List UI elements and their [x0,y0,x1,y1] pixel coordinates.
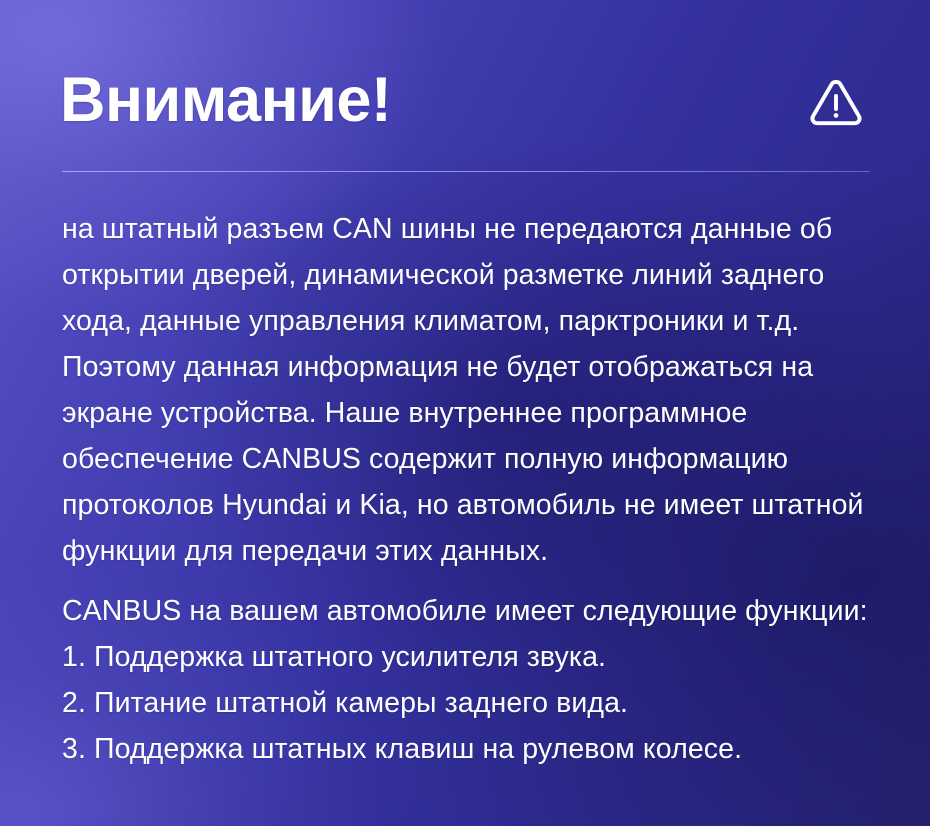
paragraph-line: Поэтому данная информация не будет отобр… [62,344,888,390]
page-title: Внимание! [60,69,391,132]
paragraph-line: обеспечение CANBUS содержит полную инфор… [62,436,888,482]
functions-list-block: CANBUS на вашем автомобиле имеет следующ… [62,588,888,772]
paragraph-line: функции для передачи этих данных. [62,528,888,574]
banner-content: Внимание! на штатный разъем CAN шины не … [0,0,930,826]
list-item: 1. Поддержка штатного усилителя звука. [62,634,888,680]
paragraph-block: на штатный разъем CAN шины не передаются… [62,206,888,574]
paragraph-line: на штатный разъем CAN шины не передаются… [62,206,888,252]
paragraph-line: открытии дверей, динамической разметке л… [62,252,888,298]
paragraph-line: экране устройства. Наше внутреннее прогр… [62,390,888,436]
paragraph-line: протоколов Hyundai и Kia, но автомобиль … [62,482,888,528]
warning-triangle-icon [806,72,866,132]
paragraph-line: хода, данные управления климатом, парктр… [62,298,888,344]
header-divider [62,171,870,172]
attention-banner: Внимание! на штатный разъем CAN шины не … [0,0,930,826]
list-item: 3. Поддержка штатных клавиш на рулевом к… [62,726,888,772]
banner-header: Внимание! [60,52,872,148]
functions-list-intro: CANBUS на вашем автомобиле имеет следующ… [62,588,888,634]
list-item: 2. Питание штатной камеры заднего вида. [62,680,888,726]
